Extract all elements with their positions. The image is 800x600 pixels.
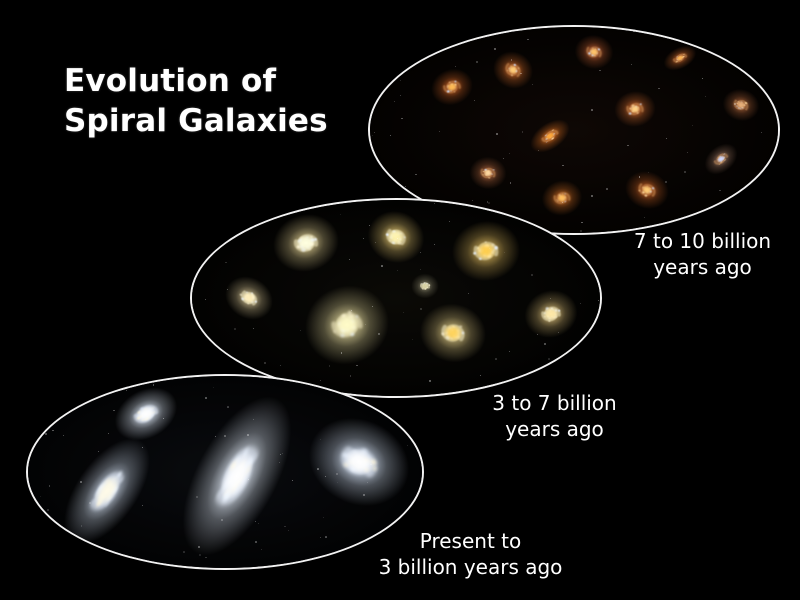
field-star: [531, 274, 533, 276]
field-star: [563, 219, 564, 220]
field-star: [390, 415, 391, 416]
field-star: [434, 244, 435, 245]
field-star: [234, 328, 236, 330]
field-star: [702, 78, 703, 79]
field-star: [494, 48, 496, 50]
field-star: [580, 303, 581, 304]
field-star: [537, 334, 538, 335]
field-star: [378, 333, 379, 334]
field-star: [255, 541, 257, 543]
field-star: [449, 221, 450, 222]
field-star: [388, 53, 389, 54]
epoch-label-mid: 3 to 7 billion years ago: [462, 390, 647, 442]
field-star: [48, 414, 49, 415]
field-star: [280, 454, 281, 455]
field-star: [292, 480, 293, 481]
field-star: [248, 479, 249, 480]
field-star: [569, 242, 571, 244]
field-star: [439, 131, 440, 132]
field-star: [205, 397, 207, 399]
field-star: [434, 203, 435, 204]
field-star: [224, 435, 226, 437]
field-star: [247, 434, 249, 436]
field-star: [367, 482, 368, 483]
field-star: [476, 61, 478, 63]
field-star: [406, 421, 407, 422]
field-star: [684, 171, 686, 173]
field-star: [198, 546, 200, 548]
field-star: [284, 526, 286, 528]
field-star: [496, 133, 498, 135]
slide-canvas: Evolution of Spiral Galaxies: [0, 0, 800, 600]
field-star: [548, 358, 550, 360]
field-star: [163, 418, 164, 419]
field-star: [692, 125, 693, 126]
field-star: [606, 188, 608, 190]
field-star: [597, 209, 599, 211]
field-star: [648, 172, 649, 173]
field-star: [98, 451, 99, 452]
field-star: [705, 96, 706, 97]
field-star: [320, 537, 321, 538]
field-star: [591, 109, 593, 111]
field-star: [208, 238, 209, 239]
epoch-field-mid: [192, 200, 600, 396]
field-star: [255, 521, 256, 522]
field-star: [533, 203, 534, 204]
field-star: [340, 214, 341, 215]
field-star: [372, 135, 373, 136]
starfield-mid: [192, 200, 600, 396]
field-star: [323, 517, 324, 518]
field-star: [598, 300, 599, 301]
field-star: [375, 242, 376, 243]
epoch-group-mid: [190, 198, 602, 398]
field-star: [734, 103, 735, 104]
field-star: [153, 384, 155, 386]
field-star: [183, 551, 185, 553]
field-star: [666, 138, 667, 139]
field-star: [412, 339, 413, 340]
field-star: [213, 387, 214, 388]
field-star: [45, 433, 47, 435]
field-star: [108, 558, 110, 560]
field-star: [398, 46, 399, 47]
field-star: [336, 473, 338, 475]
field-star: [40, 496, 41, 497]
field-star: [341, 352, 343, 354]
field-star: [384, 177, 385, 178]
field-star: [421, 451, 422, 452]
epoch-ellipse-mid: [190, 198, 602, 398]
field-star: [264, 362, 266, 364]
field-star: [196, 496, 198, 498]
epoch-label-near: Present to 3 billion years ago: [358, 528, 583, 580]
field-star: [420, 269, 421, 270]
field-star: [215, 436, 216, 437]
field-star: [739, 221, 740, 222]
field-star: [126, 390, 127, 391]
field-star: [369, 225, 370, 226]
field-star: [47, 509, 49, 511]
field-star: [258, 523, 259, 524]
field-star: [761, 132, 762, 133]
field-star: [579, 243, 581, 245]
field-star: [227, 406, 229, 408]
field-star: [329, 365, 330, 366]
field-star: [142, 447, 143, 448]
field-star: [60, 389, 61, 390]
field-star: [631, 64, 632, 65]
field-star: [591, 195, 593, 197]
field-star: [729, 54, 730, 55]
field-star: [644, 217, 645, 218]
field-star: [349, 259, 350, 260]
field-star: [225, 262, 226, 263]
field-star: [544, 343, 546, 345]
field-star: [565, 382, 566, 383]
field-star: [63, 435, 64, 436]
field-star: [627, 145, 628, 146]
field-star: [429, 380, 430, 381]
field-star: [467, 29, 468, 30]
field-star: [532, 84, 533, 85]
field-star: [585, 386, 586, 387]
field-star: [317, 468, 319, 470]
page-title: Evolution of Spiral Galaxies: [64, 62, 364, 141]
field-star: [633, 30, 635, 32]
field-star: [381, 265, 383, 267]
field-star: [393, 522, 395, 524]
field-star: [495, 358, 497, 360]
field-star: [509, 351, 510, 352]
field-star: [403, 312, 404, 313]
field-star: [320, 439, 321, 440]
field-star: [550, 298, 551, 299]
epoch-label-far: 7 to 10 billion years ago: [610, 228, 795, 280]
field-star: [510, 182, 512, 184]
field-star: [325, 476, 326, 477]
field-star: [227, 289, 228, 290]
